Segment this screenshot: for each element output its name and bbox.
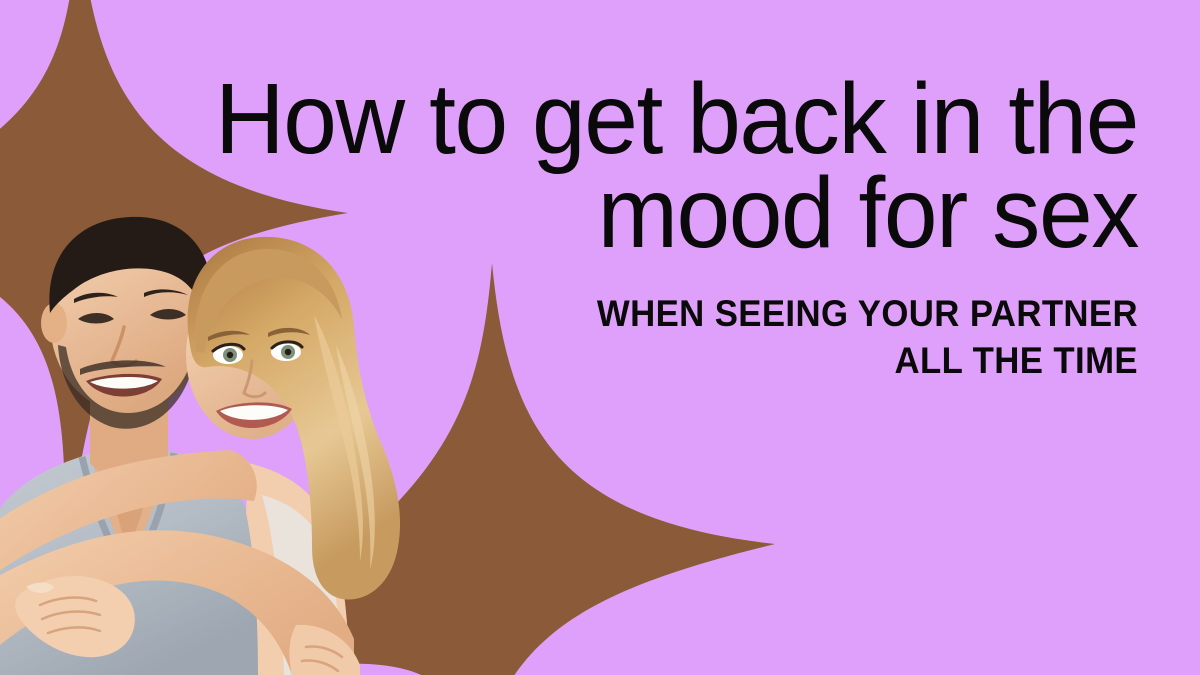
subtitle-line-2: ALL THE TIME <box>106 337 1138 384</box>
title-line-2: mood for sex <box>78 166 1138 260</box>
subtitle-line-1: WHEN SEEING YOUR PARTNER <box>106 290 1138 337</box>
blog-banner: How to get back in the mood for sex WHEN… <box>0 0 1200 675</box>
page-subtitle: WHEN SEEING YOUR PARTNER ALL THE TIME <box>40 290 1138 384</box>
title-line-1: How to get back in the <box>78 72 1138 166</box>
page-title: How to get back in the mood for sex <box>40 72 1138 260</box>
couple-photo <box>0 195 432 675</box>
